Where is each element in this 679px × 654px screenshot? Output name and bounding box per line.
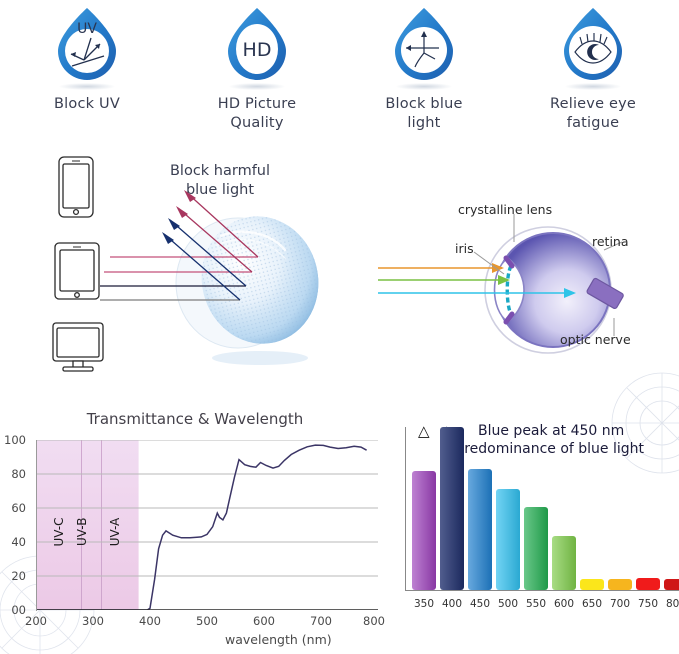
icon-shadow xyxy=(565,83,621,90)
bar-350 xyxy=(412,471,436,590)
bar-tick: 500 xyxy=(498,598,518,610)
feature-hd-quality: HD HD Picture Quality xyxy=(172,4,342,132)
icon-shadow xyxy=(59,83,115,90)
bar-tick: 800 xyxy=(666,598,679,610)
label-iris: iris xyxy=(455,241,474,256)
smartphone-icon xyxy=(59,157,93,217)
bar-tick: 550 xyxy=(526,598,546,610)
svg-text:HD: HD xyxy=(243,39,272,61)
bar-550 xyxy=(524,507,548,590)
chart-title: Transmittance & Wavelength xyxy=(0,410,390,428)
hd-text-icon: HD xyxy=(212,4,302,86)
x-tick: 800 xyxy=(363,614,385,628)
feature-label: Block blue light xyxy=(339,95,509,132)
x-tick: 300 xyxy=(82,614,104,628)
label-crystalline-lens: crystalline lens xyxy=(458,202,552,217)
bar-tick: 750 xyxy=(638,598,658,610)
y-tick: 00 xyxy=(0,603,26,617)
bar-x-axis-spine xyxy=(405,590,679,591)
blue-light-rays-icon xyxy=(379,4,469,86)
bars-container xyxy=(392,400,679,590)
label-optic-nerve: optic nerve xyxy=(560,332,631,347)
x-tick: 600 xyxy=(253,614,275,628)
bar-700 xyxy=(608,579,632,590)
lens-reflection-group xyxy=(100,180,360,380)
y-tick: 60 xyxy=(0,501,26,515)
blue-light-spectrum-chart: △ △ Blue peak at 450 nm Predominance of … xyxy=(392,400,679,630)
feature-label: HD Picture Quality xyxy=(172,95,342,132)
bar-tick: 400 xyxy=(442,598,462,610)
uv-band-label-c: UV-C xyxy=(52,509,66,555)
icon-shadow xyxy=(396,83,452,90)
uv-band-label-a: UV-A xyxy=(108,513,122,551)
bar-750 xyxy=(636,578,660,590)
uv-rays-icon: UV xyxy=(42,4,132,86)
feature-block-blue-light: Block blue light xyxy=(339,4,509,132)
monitor-icon xyxy=(53,323,103,371)
y-axis-spine xyxy=(36,440,37,611)
x-tick: 400 xyxy=(139,614,161,628)
bar-tick: 450 xyxy=(470,598,490,610)
uv-band-label-b: UV-B xyxy=(75,518,89,546)
bar-450 xyxy=(468,469,492,590)
x-tick: 700 xyxy=(310,614,332,628)
bar-600 xyxy=(552,536,576,590)
y-tick: 40 xyxy=(0,535,26,549)
eye-relief-icon xyxy=(548,4,638,86)
bar-500 xyxy=(496,489,520,590)
y-tick: 20 xyxy=(0,569,26,583)
feature-block-uv: UV Block UV xyxy=(2,4,172,114)
feature-relieve-eye-fatigue: Relieve eye fatigue xyxy=(508,4,678,132)
y-tick: 100 xyxy=(0,433,26,447)
bar-tick: 350 xyxy=(414,598,434,610)
bar-400 xyxy=(440,427,464,590)
feature-row: UV Block UV xyxy=(0,0,679,140)
feature-label: Block UV xyxy=(2,95,172,114)
label-retina: retina xyxy=(592,234,629,249)
charts-section: Transmittance & Wavelength 100 80 60 40 … xyxy=(0,400,679,654)
bar-category-ticks: 350 400 450 500 550 600 650 700 750 800 xyxy=(392,594,679,610)
icon-shadow xyxy=(229,83,285,90)
feature-label: Relieve eye fatigue xyxy=(508,95,678,132)
svg-text:UV: UV xyxy=(77,21,97,37)
x-axis-label: wavelength (nm) xyxy=(225,632,332,647)
bar-tick: 700 xyxy=(610,598,630,610)
lens-eye-diagram: Block harmful blue light xyxy=(0,140,679,390)
bar-tick: 650 xyxy=(582,598,602,610)
x-tick: 200 xyxy=(25,614,47,628)
x-tick: 500 xyxy=(196,614,218,628)
y-tick: 80 xyxy=(0,467,26,481)
tablet-icon xyxy=(55,243,99,299)
bar-800 xyxy=(664,579,679,590)
bar-tick: 600 xyxy=(554,598,574,610)
eye-anatomy-group xyxy=(378,190,678,380)
bar-650 xyxy=(580,579,604,590)
infographic-root: UV Block UV xyxy=(0,0,679,654)
